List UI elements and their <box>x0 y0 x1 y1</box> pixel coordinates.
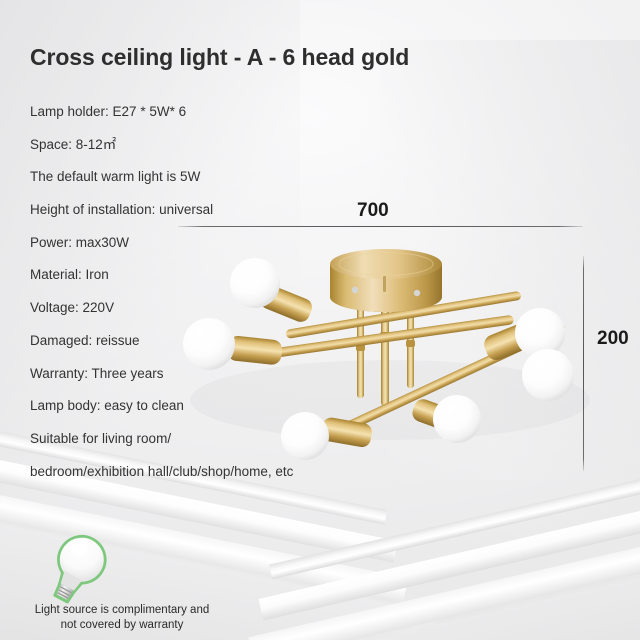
spec-item-suitable-2: bedroom/exhibition hall/club/shop/home, … <box>30 465 330 479</box>
product-image-canvas: Cross ceiling light - A - 6 head gold La… <box>0 0 640 640</box>
light-bulb-icon <box>46 533 112 607</box>
ceiling-canopy <box>330 249 442 312</box>
badge-caption-line-2: not covered by warranty <box>14 618 230 633</box>
spec-item-material: Material: Iron <box>30 268 330 282</box>
spec-item-voltage: Voltage: 220V <box>30 301 330 315</box>
spec-item-power: Power: max30W <box>30 236 330 250</box>
spec-item-lamp-holder: Lamp holder: E27 * 5W* 6 <box>30 105 330 119</box>
height-dimension-label: 200 <box>597 328 629 350</box>
spec-item-damaged: Damaged: reissue <box>30 334 330 348</box>
spec-item-lamp-body: Lamp body: easy to clean <box>30 399 330 413</box>
width-dimension-line <box>178 226 583 227</box>
spec-item-space: Space: 8-12㎡ <box>30 138 330 152</box>
spec-item-suitable-1: Suitable for living room/ <box>30 432 330 446</box>
specification-list: Lamp holder: E27 * 5W* 6 Space: 8-12㎡ Th… <box>30 105 330 497</box>
bulb-5 <box>433 395 481 443</box>
spec-item-height: Height of installation: universal <box>30 203 330 217</box>
width-dimension-label: 700 <box>357 200 389 222</box>
badge-caption: Light source is complimentary and not co… <box>14 603 230 633</box>
badge-caption-line-1: Light source is complimentary and <box>14 603 230 618</box>
page-title: Cross ceiling light - A - 6 head gold <box>30 44 409 71</box>
bulb-4 <box>522 349 574 401</box>
spec-item-warm-light: The default warm light is 5W <box>30 170 330 184</box>
height-dimension-line <box>583 256 584 471</box>
spec-item-warranty: Warranty: Three years <box>30 367 330 381</box>
